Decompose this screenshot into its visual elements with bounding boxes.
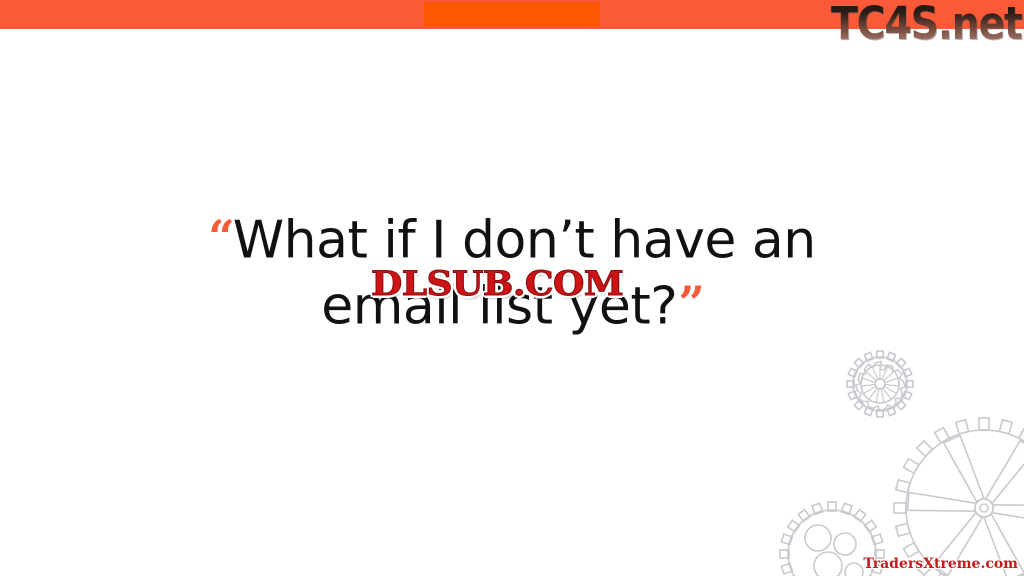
quote-line-1-text: What if I don’t have an: [233, 211, 816, 271]
dlsub-watermark: DLSUB.COM: [371, 265, 623, 303]
presentation-slide: TC4S.net TC4S.net “What if I don’t have …: [0, 0, 1024, 576]
tradersxtreme-watermark: TradersXtreme.com: [863, 556, 1018, 572]
gears-decoration-icon: [774, 326, 1024, 576]
close-quote-mark: ”: [678, 276, 702, 330]
progress-indicator-bar: [424, 2, 600, 26]
open-quote-mark: “: [208, 210, 232, 264]
tc4s-watermark: TC4S.net: [831, 0, 1022, 50]
quote-line-1: “What if I don’t have an: [0, 206, 1024, 272]
